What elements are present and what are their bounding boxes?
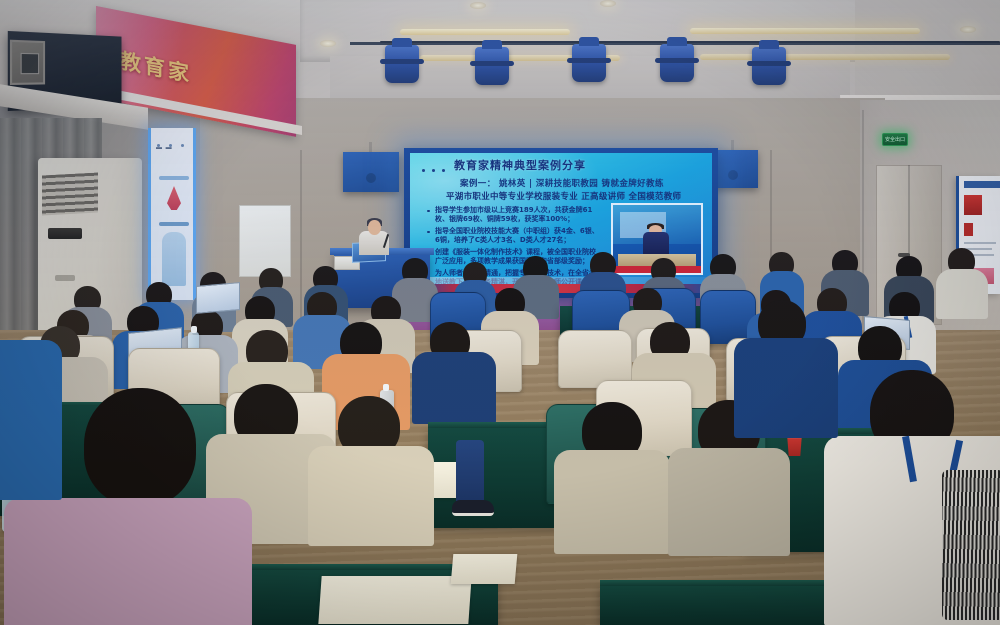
slide-bullet-item: 指导学生参加市级以上竞赛189人次，共获金牌61枚、银牌69枚、铜牌59枚，获奖…	[426, 206, 602, 224]
poster-right-header	[964, 181, 1000, 188]
laptop[interactable]	[196, 282, 240, 314]
presenter-head	[368, 220, 381, 235]
speaker-horn-frame	[10, 40, 45, 85]
downlight-icon	[320, 40, 336, 47]
wall-speaker-box-left-icon	[343, 152, 399, 192]
slide-subtitle-1: 案例一： 姚林英 | 深耕技能职教园 铸就金牌好教练	[460, 177, 664, 189]
person-body	[412, 352, 496, 424]
conference-room-scene: 教育家 ▬ ▬ 安全出口	[0, 0, 1000, 625]
downlight-icon	[600, 0, 616, 7]
backlit-poster-left: ▬ ▬	[148, 128, 196, 300]
speaker-horn-icon	[21, 53, 39, 74]
slide-bullet-item: 创建《服装一体化制作技术》课程，被全国职业院校广泛应用，多项教学成果获国家级和省…	[426, 248, 602, 266]
person-body	[936, 269, 988, 319]
person-body	[554, 450, 670, 554]
poster-left-caption: ▬ ▬	[156, 145, 173, 151]
poster-left-rule	[159, 222, 189, 226]
exit-sign-label: 安全出口	[885, 136, 905, 143]
presenter-person	[359, 218, 389, 254]
person-body	[4, 498, 252, 625]
tote-bag[interactable]	[942, 470, 1000, 620]
downlight-icon	[470, 2, 486, 9]
conference-table	[600, 586, 860, 625]
truss-cable	[380, 41, 1000, 43]
poster-left-figure-icon	[167, 186, 181, 210]
person-body	[0, 340, 62, 500]
stage-spotlight-icon	[385, 45, 419, 83]
ac-brand-logo	[55, 275, 75, 281]
slide-bullet-item: 指导全国职业院校技能大赛（中职组）获4金、6银、6铜，培养了C类人才3名、D类人…	[426, 227, 602, 245]
handout-paper[interactable]	[318, 576, 471, 624]
person-body	[734, 338, 838, 438]
wall-whiteboard	[239, 205, 291, 277]
stage-spotlight-icon	[660, 44, 694, 82]
stage-spotlight-icon	[475, 47, 509, 85]
ceiling-tube-light	[690, 28, 920, 34]
poster-right-red-block	[964, 195, 982, 215]
handout-paper[interactable]	[451, 554, 518, 584]
person-body	[668, 448, 790, 556]
exit-sign-icon: 安全出口	[882, 133, 908, 146]
slide-bullet-dots	[422, 162, 452, 180]
person-body	[308, 446, 434, 546]
downlight-icon	[960, 26, 976, 33]
poster-right-textline	[964, 242, 996, 244]
ac-control-panel[interactable]	[48, 228, 82, 239]
poster-left-graphic	[162, 232, 186, 286]
poster-left-rule	[159, 176, 189, 180]
shoe-icon	[452, 500, 494, 516]
ac-grille-icon	[42, 173, 98, 216]
wall-seam	[300, 150, 302, 330]
person-head	[84, 388, 196, 506]
slide-subtitle-2: 平湖市职业中等专业学校服装专业 正高级讲师 全国模范教师	[446, 190, 681, 202]
ceiling-tube-light	[400, 29, 570, 35]
stage-spotlight-icon	[752, 47, 786, 85]
stage-spotlight-icon	[572, 44, 606, 82]
poster-right-red-accent	[964, 223, 973, 236]
ceiling-tube-light	[700, 54, 950, 60]
slide-title: 教育家精神典型案例分享	[454, 157, 586, 173]
